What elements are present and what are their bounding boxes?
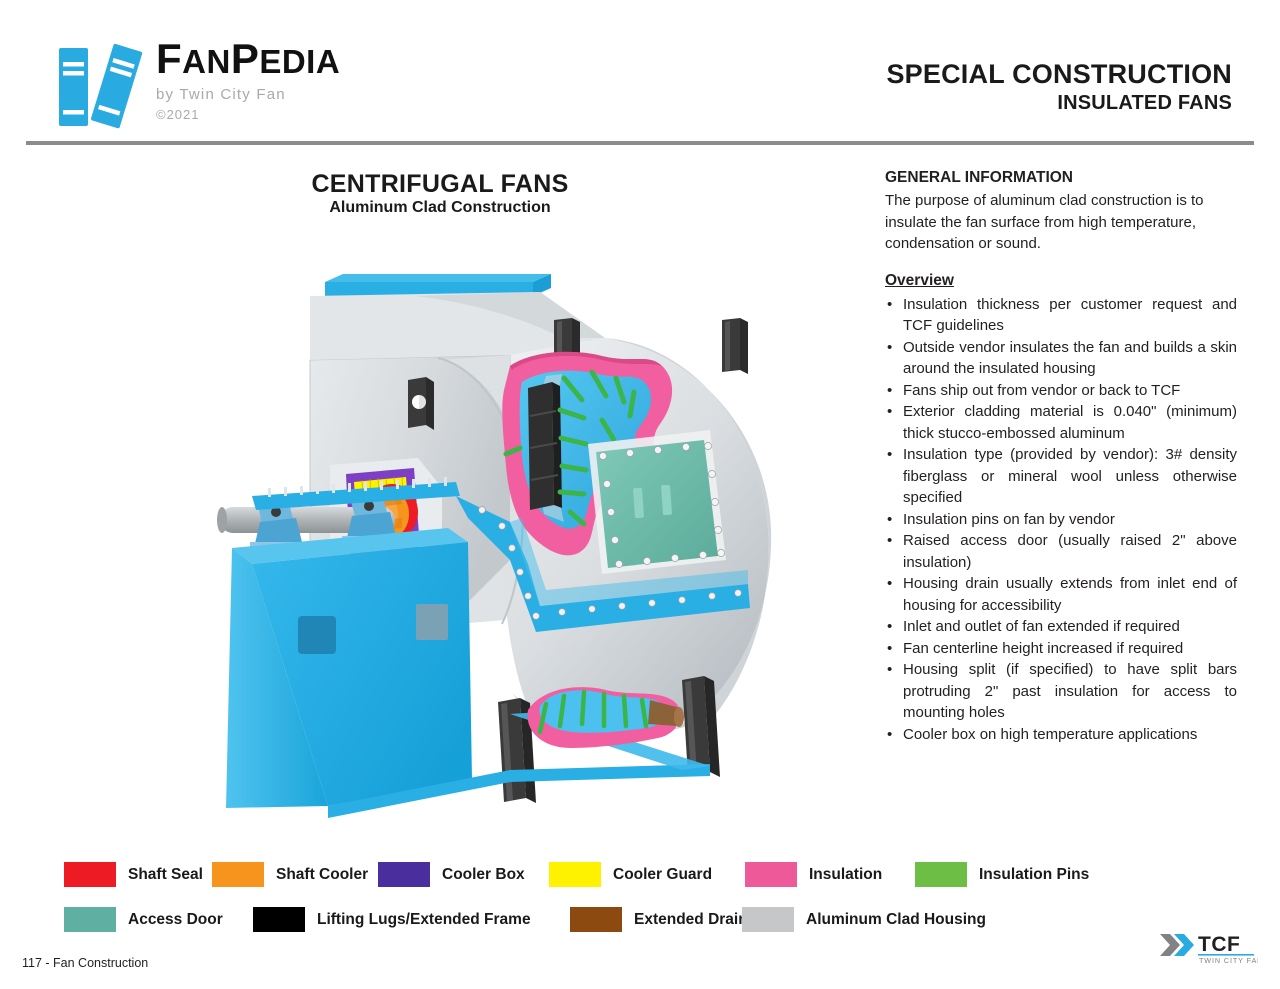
- base-vent-right: [416, 604, 448, 640]
- legend-insulation-pins: Insulation Pins: [915, 862, 1089, 887]
- tcf-logo: TCF TWIN CITY FAN: [1158, 928, 1258, 966]
- header-divider: [26, 141, 1254, 145]
- legend-shaft-seal: Shaft Seal: [64, 862, 203, 887]
- section-title: CENTRIFUGAL FANS: [20, 170, 860, 199]
- legend-insulation-pins-swatch: [915, 862, 967, 887]
- list-item: Insulation type (provided by vendor): 3#…: [885, 444, 1237, 509]
- right-column: GENERAL INFORMATION The purpose of alumi…: [885, 168, 1237, 745]
- legend-cooler-guard-label: Cooler Guard: [613, 866, 712, 884]
- list-item: Fan centerline height increased if requi…: [885, 638, 1237, 660]
- list-item: Raised access door (usually raised 2" ab…: [885, 530, 1237, 573]
- lifting-lug-scroll-right: [722, 318, 748, 374]
- legend-insulation-label: Insulation: [809, 866, 882, 884]
- list-item: Fans ship out from vendor or back to TCF: [885, 380, 1237, 402]
- access-door-panel: [596, 440, 718, 568]
- drain-cutaway: [528, 687, 684, 748]
- legend-access-door-swatch: [64, 907, 116, 932]
- base-vent-left: [298, 616, 336, 654]
- header-title-block: SPECIAL CONSTRUCTION INSULATED FANS: [886, 58, 1232, 116]
- legend-aluminum-clad-housing-label: Aluminum Clad Housing: [806, 911, 986, 929]
- legend-lifting-lugs: Lifting Lugs/Extended Frame: [253, 907, 531, 932]
- general-information-heading: GENERAL INFORMATION: [885, 168, 1237, 188]
- legend-cooler-guard-swatch: [549, 862, 601, 887]
- list-item: Cooler box on high temperature applicati…: [885, 724, 1237, 746]
- legend-aluminum-clad-housing-swatch: [742, 907, 794, 932]
- fanpedia-tagline: by Twin City Fan: [156, 83, 456, 106]
- fanpedia-wordmark: FANPEDIA by Twin City Fan ©2021: [156, 36, 456, 123]
- legend-shaft-seal-swatch: [64, 862, 116, 887]
- color-legend: Shaft SealShaft CoolerCooler BoxCooler G…: [0, 855, 1280, 945]
- section-subtitle: Aluminum Clad Construction: [20, 199, 860, 217]
- fanpedia-logo: FANPEDIA by Twin City Fan ©2021: [48, 36, 468, 136]
- legend-insulation-pins-label: Insulation Pins: [979, 866, 1089, 884]
- list-item: Insulation pins on fan by vendor: [885, 509, 1237, 531]
- footer-page-label: 117 - Fan Construction: [22, 956, 148, 970]
- overview-list: Insulation thickness per customer reques…: [885, 294, 1237, 746]
- brand-p: P: [231, 35, 260, 82]
- legend-aluminum-clad-housing: Aluminum Clad Housing: [742, 907, 986, 932]
- page-header: FANPEDIA by Twin City Fan ©2021 SPECIAL …: [0, 0, 1280, 142]
- legend-shaft-cooler-label: Shaft Cooler: [276, 866, 368, 884]
- page-subtitle: INSULATED FANS: [886, 90, 1232, 116]
- list-item: Inlet and outlet of fan extended if requ…: [885, 616, 1237, 638]
- brand-f: F: [156, 35, 182, 82]
- legend-lifting-lugs-swatch: [253, 907, 305, 932]
- list-item: Housing drain usually extends from inlet…: [885, 573, 1237, 616]
- left-column: CENTRIFUGAL FANS Aluminum Clad Construct…: [20, 160, 860, 820]
- legend-cooler-box-label: Cooler Box: [442, 866, 525, 884]
- legend-shaft-cooler-swatch: [212, 862, 264, 887]
- legend-shaft-seal-label: Shaft Seal: [128, 866, 203, 884]
- legend-cooler-guard: Cooler Guard: [549, 862, 712, 887]
- list-item: Insulation thickness per customer reques…: [885, 294, 1237, 337]
- legend-access-door-label: Access Door: [128, 911, 223, 929]
- motor-base-pedestal: [226, 528, 472, 808]
- legend-extended-drain-label: Extended Drain: [634, 911, 748, 929]
- svg-text:TWIN CITY FAN: TWIN CITY FAN: [1199, 956, 1258, 965]
- legend-access-door: Access Door: [64, 907, 223, 932]
- legend-extended-drain: Extended Drain: [570, 907, 748, 932]
- legend-insulation-swatch: [745, 862, 797, 887]
- centrifugal-fan-diagram: [210, 260, 800, 820]
- brand-an: AN: [182, 43, 231, 80]
- fanpedia-copyright: ©2021: [156, 107, 456, 123]
- list-item: Outside vendor insulates the fan and bui…: [885, 337, 1237, 380]
- general-information-body: The purpose of aluminum clad constructio…: [885, 190, 1237, 255]
- page-title: SPECIAL CONSTRUCTION: [886, 58, 1232, 90]
- brand-edia: EDIA: [259, 43, 340, 80]
- books-icon: [54, 40, 159, 132]
- lifting-lug-top-left: [408, 377, 434, 430]
- legend-lifting-lugs-label: Lifting Lugs/Extended Frame: [317, 911, 531, 929]
- tagline-text: by Twin City Fan: [156, 86, 286, 103]
- legend-cooler-box-swatch: [378, 862, 430, 887]
- overview-heading: Overview: [885, 270, 1237, 291]
- svg-text:TCF: TCF: [1198, 933, 1240, 956]
- legend-insulation: Insulation: [745, 862, 882, 887]
- legend-cooler-box: Cooler Box: [378, 862, 525, 887]
- legend-extended-drain-swatch: [570, 907, 622, 932]
- list-item: Exterior cladding material is 0.040" (mi…: [885, 401, 1237, 444]
- legend-shaft-cooler: Shaft Cooler: [212, 862, 368, 887]
- access-door: [588, 430, 726, 574]
- list-item: Housing split (if specified) to have spl…: [885, 659, 1237, 724]
- fanpedia-title: FANPEDIA: [156, 36, 456, 85]
